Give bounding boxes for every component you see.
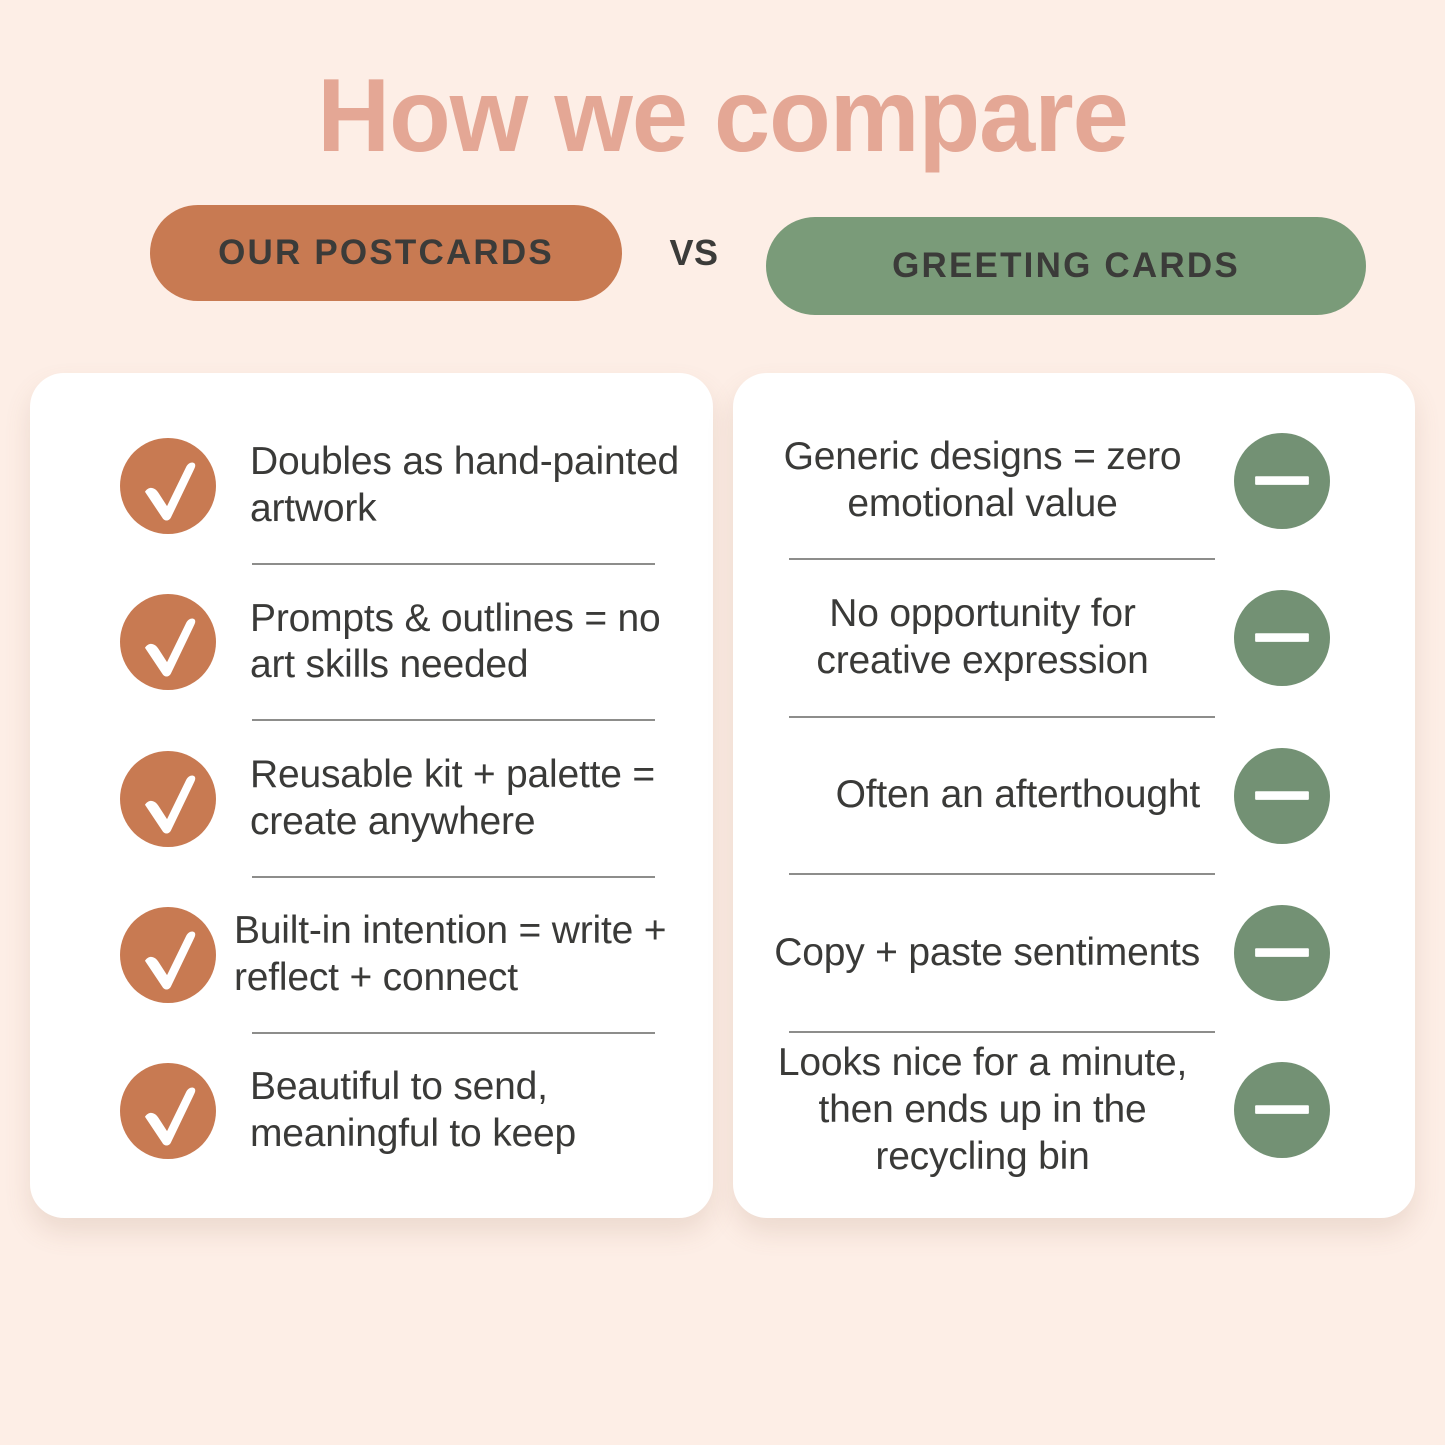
list-item: Doubles as hand-painted artwork	[60, 409, 683, 563]
pill-our-postcards-label: OUR POSTCARDS	[218, 233, 554, 273]
pill-greeting-cards-label: GREETING CARDS	[892, 246, 1240, 286]
minus-icon	[1234, 433, 1330, 529]
list-item: No opportunity for creative expression	[763, 560, 1385, 715]
list-item-label: Beautiful to send, meaningful to keep	[250, 1064, 683, 1158]
list-item-label: Copy + paste sentiments	[774, 930, 1200, 977]
list-item-label: Built-in intention = write + reflect + c…	[234, 908, 683, 1002]
pros-card: Doubles as hand-painted artwork Prompts …	[30, 373, 713, 1218]
cons-card: Generic designs = zero emotional value N…	[733, 373, 1415, 1218]
list-item: Built-in intention = write + reflect + c…	[60, 878, 683, 1032]
list-item: Often an afterthought	[763, 718, 1385, 873]
page-title: How we compare	[22, 62, 1424, 171]
minus-icon	[1234, 1062, 1330, 1158]
list-item-label: Prompts & outlines = no art skills neede…	[250, 596, 683, 690]
minus-icon	[1234, 905, 1330, 1001]
check-icon	[120, 1063, 216, 1159]
list-item: Generic designs = zero emotional value	[763, 403, 1385, 558]
check-icon	[120, 751, 216, 847]
check-icon	[120, 907, 216, 1003]
list-item: Beautiful to send, meaningful to keep	[60, 1034, 683, 1188]
pill-our-postcards[interactable]: OUR POSTCARDS	[150, 205, 622, 301]
list-item-label: Reusable kit + palette = create anywhere	[250, 752, 683, 846]
minus-icon	[1234, 748, 1330, 844]
comparison-header: OUR POSTCARDS VS GREETING CARDS	[0, 200, 1445, 320]
list-item: Copy + paste sentiments	[763, 875, 1385, 1030]
list-item: Reusable kit + palette = create anywhere	[60, 721, 683, 875]
list-item-label: Looks nice for a minute, then ends up in…	[765, 1040, 1200, 1180]
list-item-label: Doubles as hand-painted artwork	[250, 439, 683, 533]
list-item-label: No opportunity for creative expression	[765, 591, 1200, 685]
pill-greeting-cards[interactable]: GREETING CARDS	[766, 217, 1366, 315]
list-item: Prompts & outlines = no art skills neede…	[60, 565, 683, 719]
check-icon	[120, 438, 216, 534]
minus-icon	[1234, 590, 1330, 686]
vs-label-text: VS	[669, 232, 718, 274]
list-item-label: Generic designs = zero emotional value	[765, 434, 1200, 528]
check-icon	[120, 594, 216, 690]
vs-separator: VS	[622, 205, 766, 301]
list-item: Looks nice for a minute, then ends up in…	[763, 1033, 1385, 1188]
list-item-label: Often an afterthought	[836, 772, 1200, 819]
